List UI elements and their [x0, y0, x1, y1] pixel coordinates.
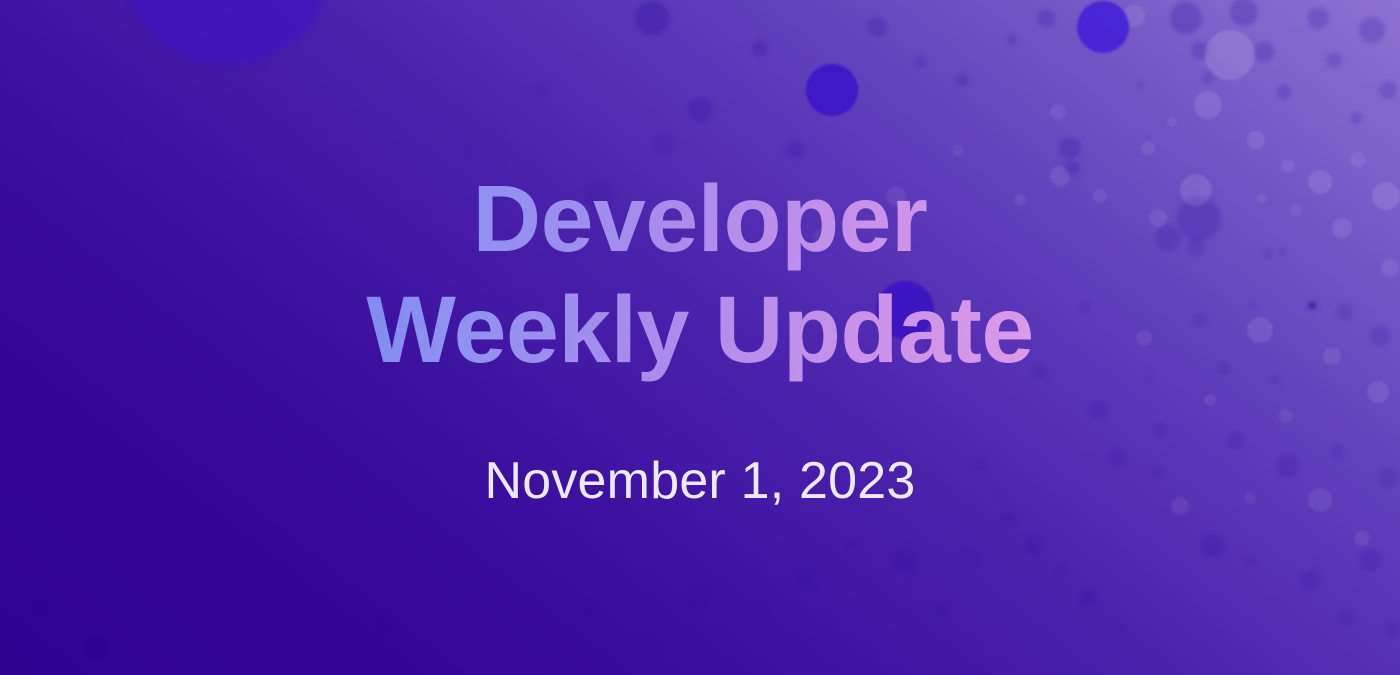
- title-line-1: Developer: [366, 164, 1034, 274]
- title-line-2: Weekly Update: [366, 275, 1034, 385]
- hero-banner: Developer Weekly Update November 1, 2023: [0, 0, 1400, 675]
- banner-date: November 1, 2023: [484, 451, 915, 511]
- banner-content: Developer Weekly Update November 1, 2023: [0, 0, 1400, 675]
- page-title: Developer Weekly Update: [366, 164, 1034, 384]
